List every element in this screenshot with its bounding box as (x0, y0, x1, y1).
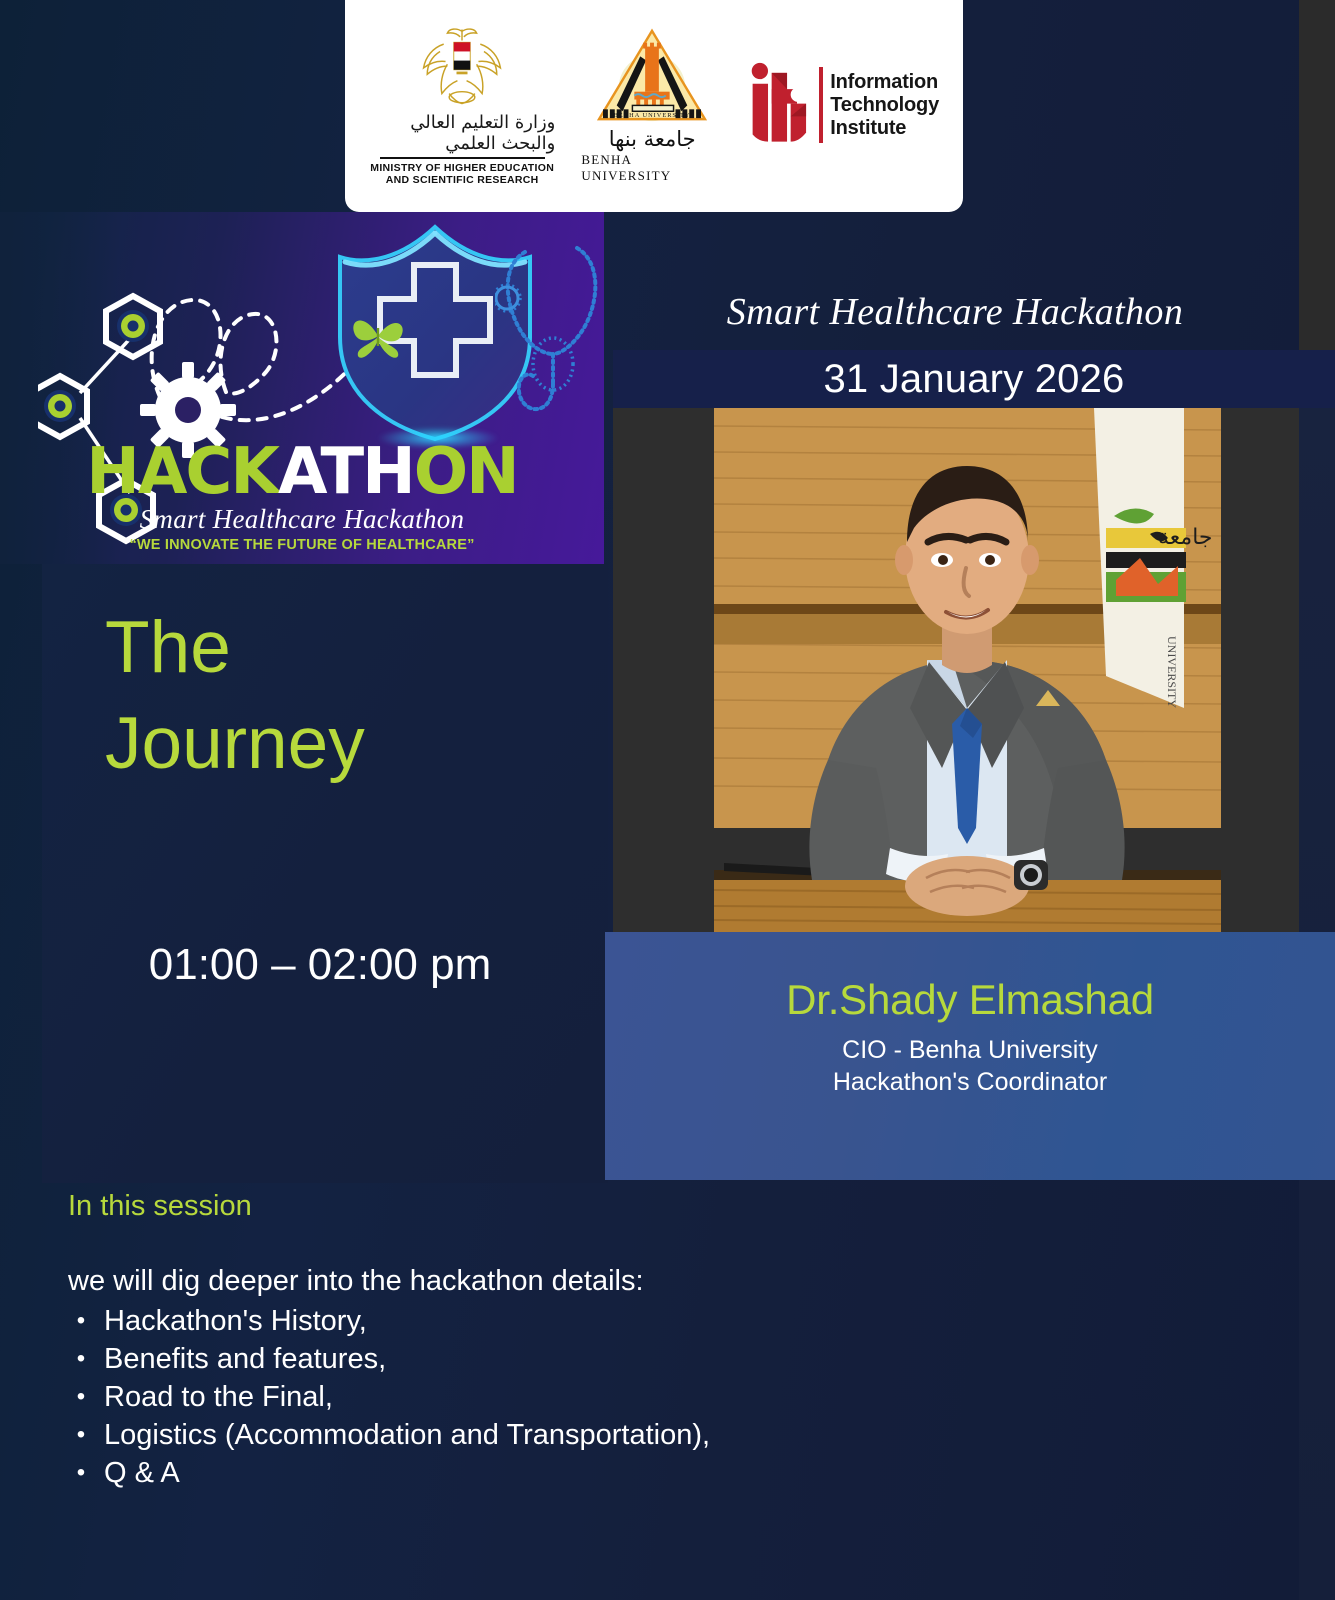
benha-pyramid-emblem-icon: BENHA UNIVERSITY (593, 27, 711, 125)
ministry-english-line2: AND SCIENTIFIC RESEARCH (386, 174, 539, 186)
list-item: • Hackathon's History, (68, 1302, 968, 1340)
list-item: • Road to the Final, (68, 1378, 968, 1416)
speaker-info-card: Dr.Shady Elmashad CIO - Benha University… (605, 932, 1335, 1180)
iti-monogram-icon (749, 59, 812, 151)
hackathon-word-part3: ON (414, 435, 518, 509)
svg-text:جامعة: جامعة (1158, 525, 1213, 550)
session-title-line2: Journey (105, 696, 565, 792)
iti-line3: Institute (830, 117, 939, 140)
iti-line1: Information (830, 71, 939, 94)
event-date-bar: 31 January 2026 (613, 350, 1335, 408)
bullet-icon: • (68, 1302, 94, 1340)
speaker-role-line1: CIO - Benha University (842, 1036, 1098, 1065)
event-title: Smart Healthcare Hackathon (605, 290, 1305, 334)
ministry-of-higher-education-logo: وزارة التعليم العالي والبحث العلمي MINIS… (369, 24, 555, 186)
bullet-icon: • (68, 1416, 94, 1454)
speaker-role-line2: Hackathon's Coordinator (833, 1068, 1107, 1097)
hackathon-logo-tagline: “WE INNOVATE THE FUTURE OF HEALTHCARE” (0, 537, 604, 553)
hackathon-wordmark: HACKATHON (0, 440, 604, 504)
ministry-arabic-name: وزارة التعليم العالي والبحث العلمي (369, 112, 555, 154)
list-item-label: Road to the Final, (104, 1378, 333, 1416)
ministry-divider (380, 157, 545, 159)
hackathon-word-part2: ATH (278, 435, 414, 509)
ministry-english-line1: MINISTRY OF HIGHER EDUCATION (370, 162, 554, 174)
benha-university-logo: BENHA UNIVERSITY جامعة بنها BENHA UNIVER… (581, 27, 723, 184)
session-intro-text: we will dig deeper into the hackathon de… (68, 1265, 968, 1298)
right-edge-strip (1299, 0, 1335, 1600)
list-item-label: Logistics (Accommodation and Transportat… (104, 1416, 710, 1454)
stethoscope-icon (495, 234, 604, 444)
bullet-icon: • (68, 1454, 94, 1492)
session-bullet-list: • Hackathon's History, • Benefits and fe… (68, 1302, 968, 1492)
bullet-icon: • (68, 1378, 94, 1416)
egypt-eagle-emblem-icon (416, 24, 508, 110)
sponsor-logo-banner: وزارة التعليم العالي والبحث العلمي MINIS… (345, 0, 963, 212)
session-title-line1: The (105, 600, 565, 696)
speaker-name: Dr.Shady Elmashad (786, 976, 1154, 1024)
list-item: • Logistics (Accommodation and Transport… (68, 1416, 968, 1454)
speaker-portrait-illustration: جامعة UNIVERSITY (714, 408, 1221, 933)
benha-english-name: BENHA UNIVERSITY (581, 152, 723, 184)
iti-line2: Technology (830, 94, 939, 117)
hackathon-logo-subtitle: Smart Healthcare Hackathon (0, 504, 604, 535)
list-item: • Q & A (68, 1454, 968, 1492)
information-technology-institute-logo: Information Technology Institute (749, 59, 939, 151)
list-item-label: Hackathon's History, (104, 1302, 367, 1340)
speaker-photo-frame: جامعة UNIVERSITY (613, 408, 1299, 933)
bullet-icon: • (68, 1340, 94, 1378)
speaker-photo: جامعة UNIVERSITY (714, 408, 1221, 933)
svg-text:UNIVERSITY: UNIVERSITY (1165, 636, 1179, 708)
benha-arabic-name: جامعة بنها (609, 127, 696, 151)
event-date: 31 January 2026 (823, 357, 1124, 402)
hackathon-logo-panel: HACKATHON Smart Healthcare Hackathon “WE… (0, 212, 604, 564)
poster-canvas: وزارة التعليم العالي والبحث العلمي MINIS… (0, 0, 1335, 1600)
butterfly-icon (348, 312, 408, 360)
iti-name-block: Information Technology Institute (830, 71, 939, 140)
hackathon-word-part1: HACK (86, 435, 278, 509)
svg-text:BENHA UNIVERSITY: BENHA UNIVERSITY (614, 112, 691, 119)
session-title: The Journey (105, 600, 565, 792)
iti-divider-bar (819, 67, 823, 143)
session-details: In this session we will dig deeper into … (68, 1190, 968, 1492)
session-time: 01:00 – 02:00 pm (105, 940, 535, 990)
list-item-label: Benefits and features, (104, 1340, 386, 1378)
list-item: • Benefits and features, (68, 1340, 968, 1378)
list-item-label: Q & A (104, 1454, 180, 1492)
in-this-session-label: In this session (68, 1190, 968, 1223)
